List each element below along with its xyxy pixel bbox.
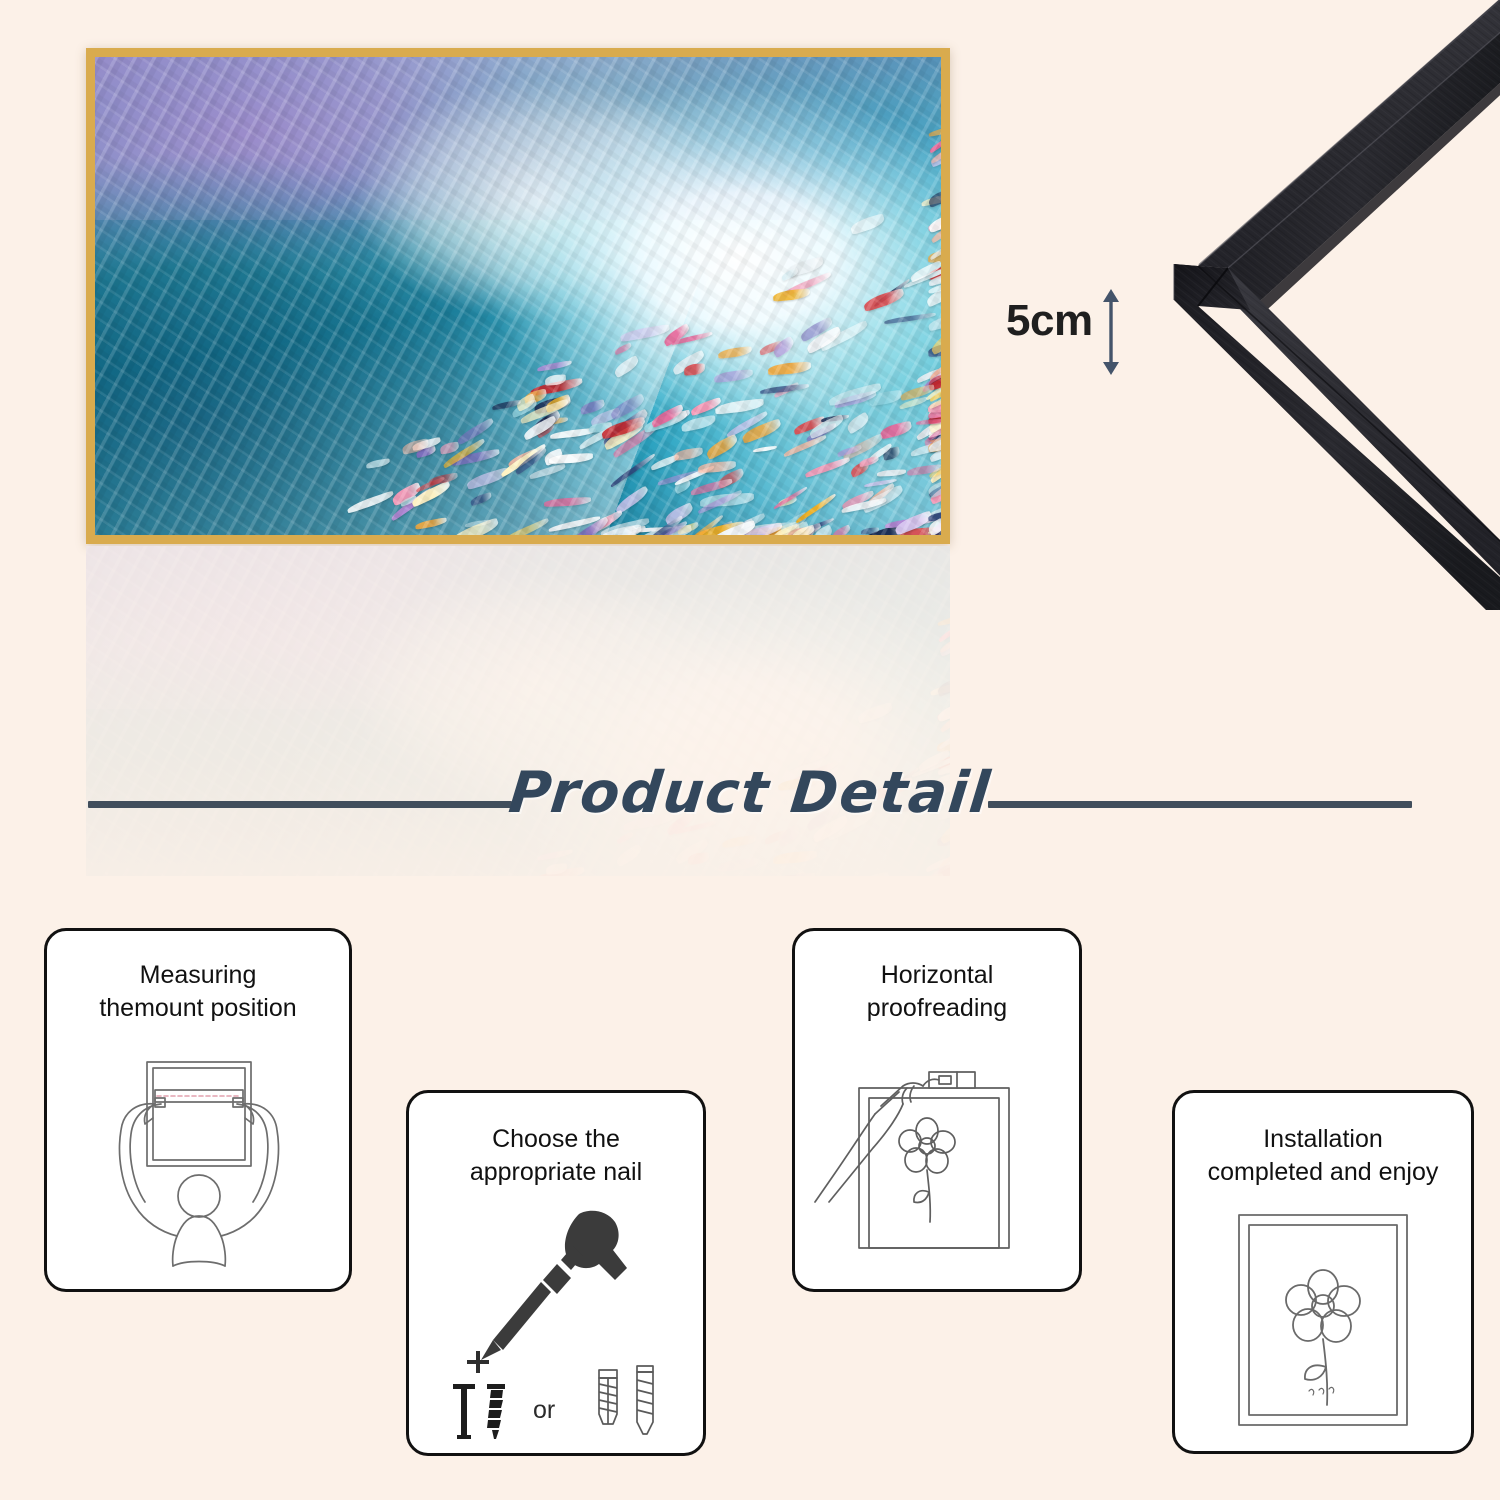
step-illustration — [1175, 1189, 1471, 1451]
page-title: Product Detail — [0, 760, 1500, 826]
person-holding-frame-with-ruler-icon — [73, 1046, 323, 1268]
black-wood-frame-corner — [1110, 0, 1500, 610]
framed-painting[interactable] — [86, 48, 950, 544]
painting-canvas — [95, 57, 941, 535]
step-illustration — [47, 1025, 349, 1289]
or-separator: or — [533, 1396, 555, 1424]
hung-framed-flower-picture-icon — [1213, 1205, 1433, 1435]
impasto-texture — [95, 57, 941, 535]
step-illustration — [795, 1025, 1079, 1289]
step-label: Choose theappropriate nail — [456, 1123, 656, 1189]
heading-rule-right — [988, 801, 1412, 808]
thickness-label: 5cm — [1006, 296, 1093, 346]
step-label: Horizontalproofreading — [853, 959, 1021, 1025]
step-label: Installationcompleted and enjoy — [1194, 1123, 1453, 1189]
step-card-measuring[interactable]: Measuringthemount position — [44, 928, 352, 1292]
step-card-installation-complete[interactable]: Installationcompleted and enjoy — [1172, 1090, 1474, 1454]
product-listing-image: 5cm — [0, 0, 1500, 1500]
reflection-canvas — [86, 546, 950, 876]
step-card-choose-nail[interactable]: Choose theappropriate nail — [406, 1090, 706, 1456]
hammer-nails-anchor-icon: or — [431, 1202, 681, 1440]
step-illustration: or — [409, 1189, 703, 1453]
hand-with-spirit-level-on-frame-icon — [811, 1052, 1063, 1262]
reflection-fade — [86, 546, 950, 876]
step-card-horizontal-proofreading[interactable]: Horizontalproofreading — [792, 928, 1082, 1292]
step-label: Measuringthemount position — [85, 959, 310, 1025]
painting-reflection — [86, 546, 950, 876]
